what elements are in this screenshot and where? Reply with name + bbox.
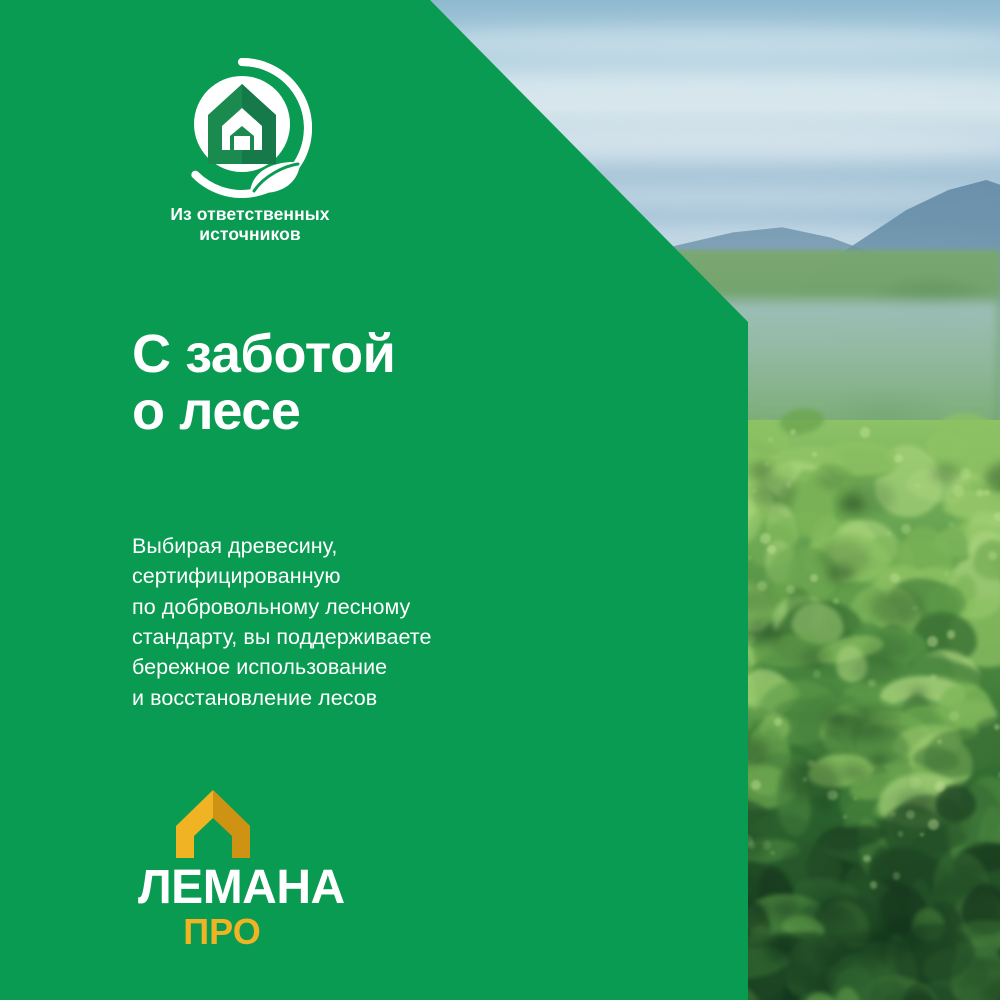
body-copy: Выбирая древесину, сертифицированную по … (132, 531, 431, 713)
badge-caption: Из ответственных источников (130, 204, 370, 244)
house-leaf-circle-icon (172, 58, 312, 198)
poster-content: Из ответственных источников С заботой о … (0, 0, 1000, 1000)
brand-name: ЛЕМАНА (138, 864, 378, 912)
promo-poster: Из ответственных источников С заботой о … (0, 0, 1000, 1000)
lemana-house-icon (174, 788, 252, 860)
responsible-sources-badge: Из ответственных источников (130, 58, 370, 244)
brand-sub: ПРО (138, 914, 306, 950)
lemana-pro-logo: ЛЕМАНА ПРО (138, 788, 378, 950)
page-title: С заботой о лесе (132, 326, 395, 440)
